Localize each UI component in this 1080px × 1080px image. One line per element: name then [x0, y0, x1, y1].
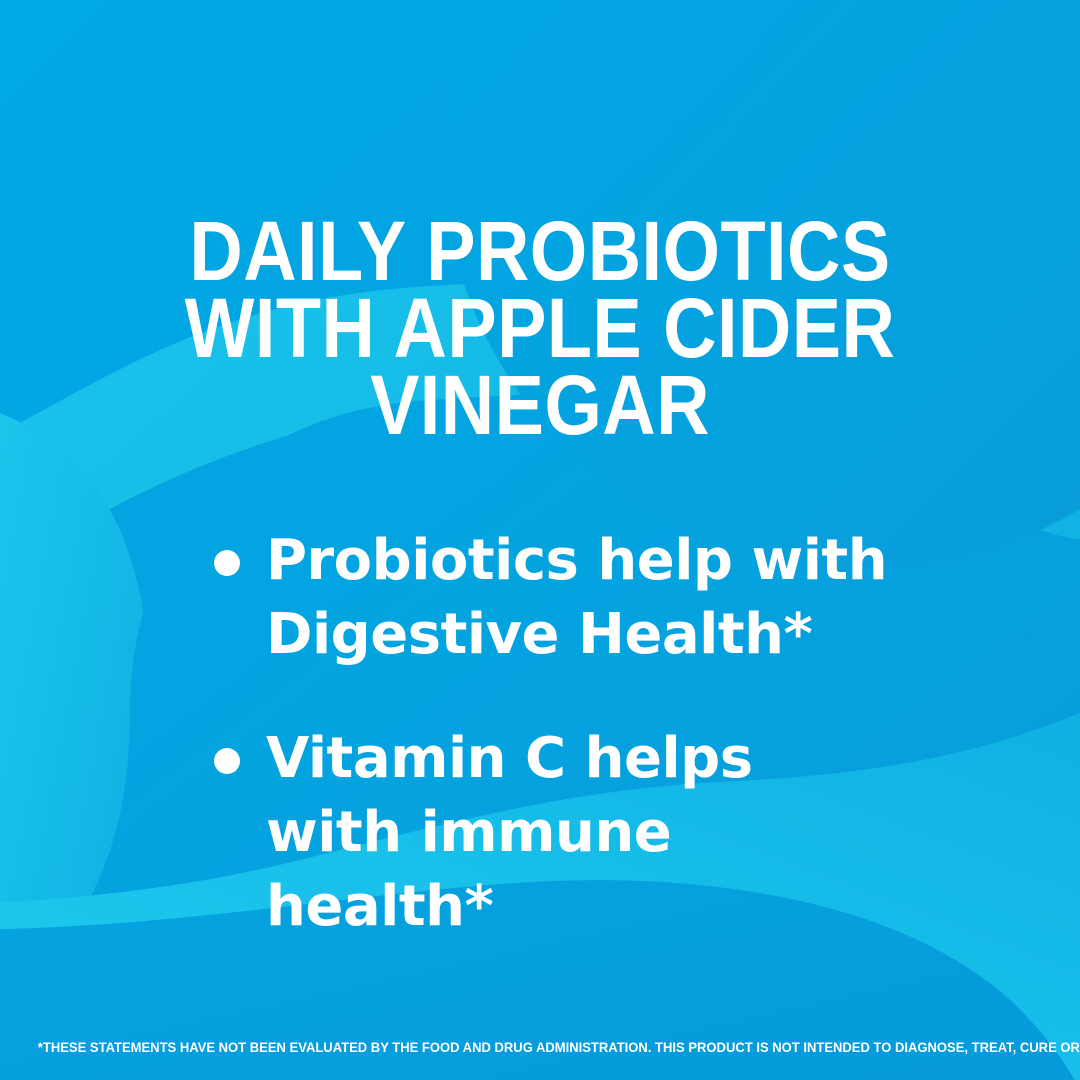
list-item-label: Vitamin C helps with immune health* [266, 722, 906, 944]
benefits-list: Probiotics help with Digestive Health* V… [214, 524, 934, 944]
list-item: Probiotics help with Digestive Health* [214, 524, 934, 672]
bullet-dot-icon [214, 550, 240, 576]
list-item-label: Probiotics help with Digestive Health* [266, 524, 906, 672]
content-layer: DAILY PROBIOTICS WITH APPLE CIDER VINEGA… [0, 0, 1080, 1080]
headline-line-3: VINEGAR [65, 367, 1015, 444]
bullet-dot-icon [214, 748, 240, 774]
page-title: DAILY PROBIOTICS WITH APPLE CIDER VINEGA… [65, 213, 1015, 444]
list-item: Vitamin C helps with immune health* [214, 722, 934, 944]
fda-disclaimer: *THESE STATEMENTS HAVE NOT BEEN EVALUATE… [38, 1038, 1042, 1056]
headline-line-2: WITH APPLE CIDER [65, 290, 1015, 367]
headline-line-1: DAILY PROBIOTICS [65, 213, 1015, 290]
promo-graphic-canvas: DAILY PROBIOTICS WITH APPLE CIDER VINEGA… [0, 0, 1080, 1080]
